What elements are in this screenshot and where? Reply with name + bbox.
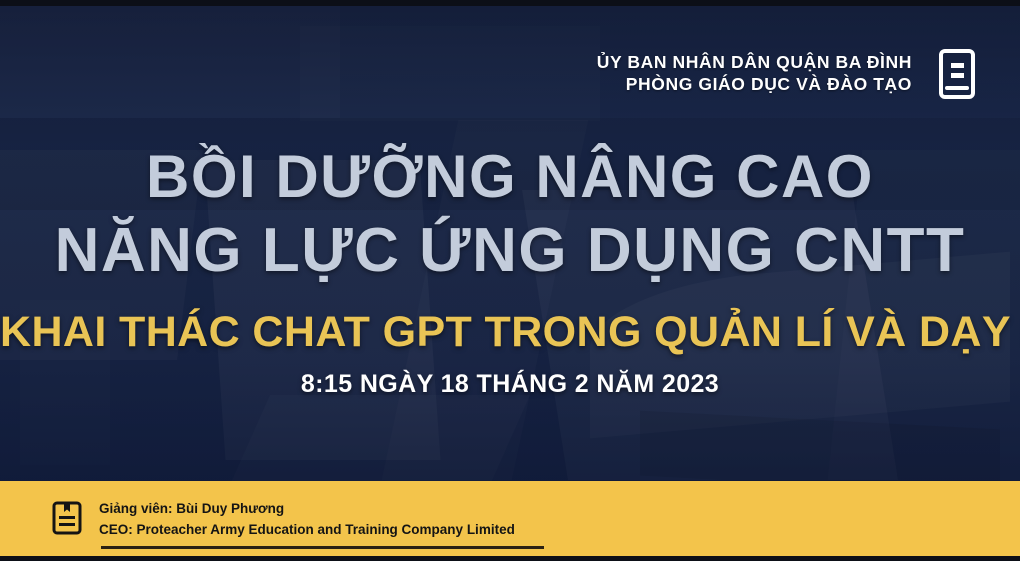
footer-divider [101,546,544,549]
slide-footer: Giảng viên: Bùi Duy Phương CEO: Proteach… [0,481,1020,556]
bottom-black-strip [0,556,1020,561]
presentation-slide: ỦY BAN NHÂN DÂN QUẬN BA ĐÌNH PHÒNG GIÁO … [0,0,1020,561]
slide-headline: KHAI THÁC CHAT GPT TRONG QUẢN LÍ VÀ DẠY … [0,308,1020,357]
presenter-info: Giảng viên: Bùi Duy Phương CEO: Proteach… [99,499,515,540]
title-line-2: NĂNG LỰC ỨNG DỤNG CNTT [0,214,1020,288]
presenter-name: Giảng viên: Bùi Duy Phương [99,499,515,519]
slide-datetime: 8:15 NGÀY 18 THÁNG 2 NĂM 2023 [0,370,1020,399]
presenter-title: CEO: Proteacher Army Education and Train… [99,519,515,540]
organization-name: ỦY BAN NHÂN DÂN QUẬN BA ĐÌNH PHÒNG GIÁO … [597,48,938,95]
book-bookmark-icon [52,501,82,535]
organization-line-2: PHÒNG GIÁO DỤC VÀ ĐÀO TẠO [597,73,912,95]
title-line-1: BỒI DƯỠNG NÂNG CAO [0,140,1020,214]
slide-title-group: BỒI DƯỠNG NÂNG CAO NĂNG LỰC ỨNG DỤNG CNT… [0,140,1020,288]
book-outline-icon [938,48,976,100]
slide-header: ỦY BAN NHÂN DÂN QUẬN BA ĐÌNH PHÒNG GIÁO … [0,48,1020,100]
top-black-strip [0,0,1020,6]
organization-line-1: ỦY BAN NHÂN DÂN QUẬN BA ĐÌNH [597,51,912,73]
